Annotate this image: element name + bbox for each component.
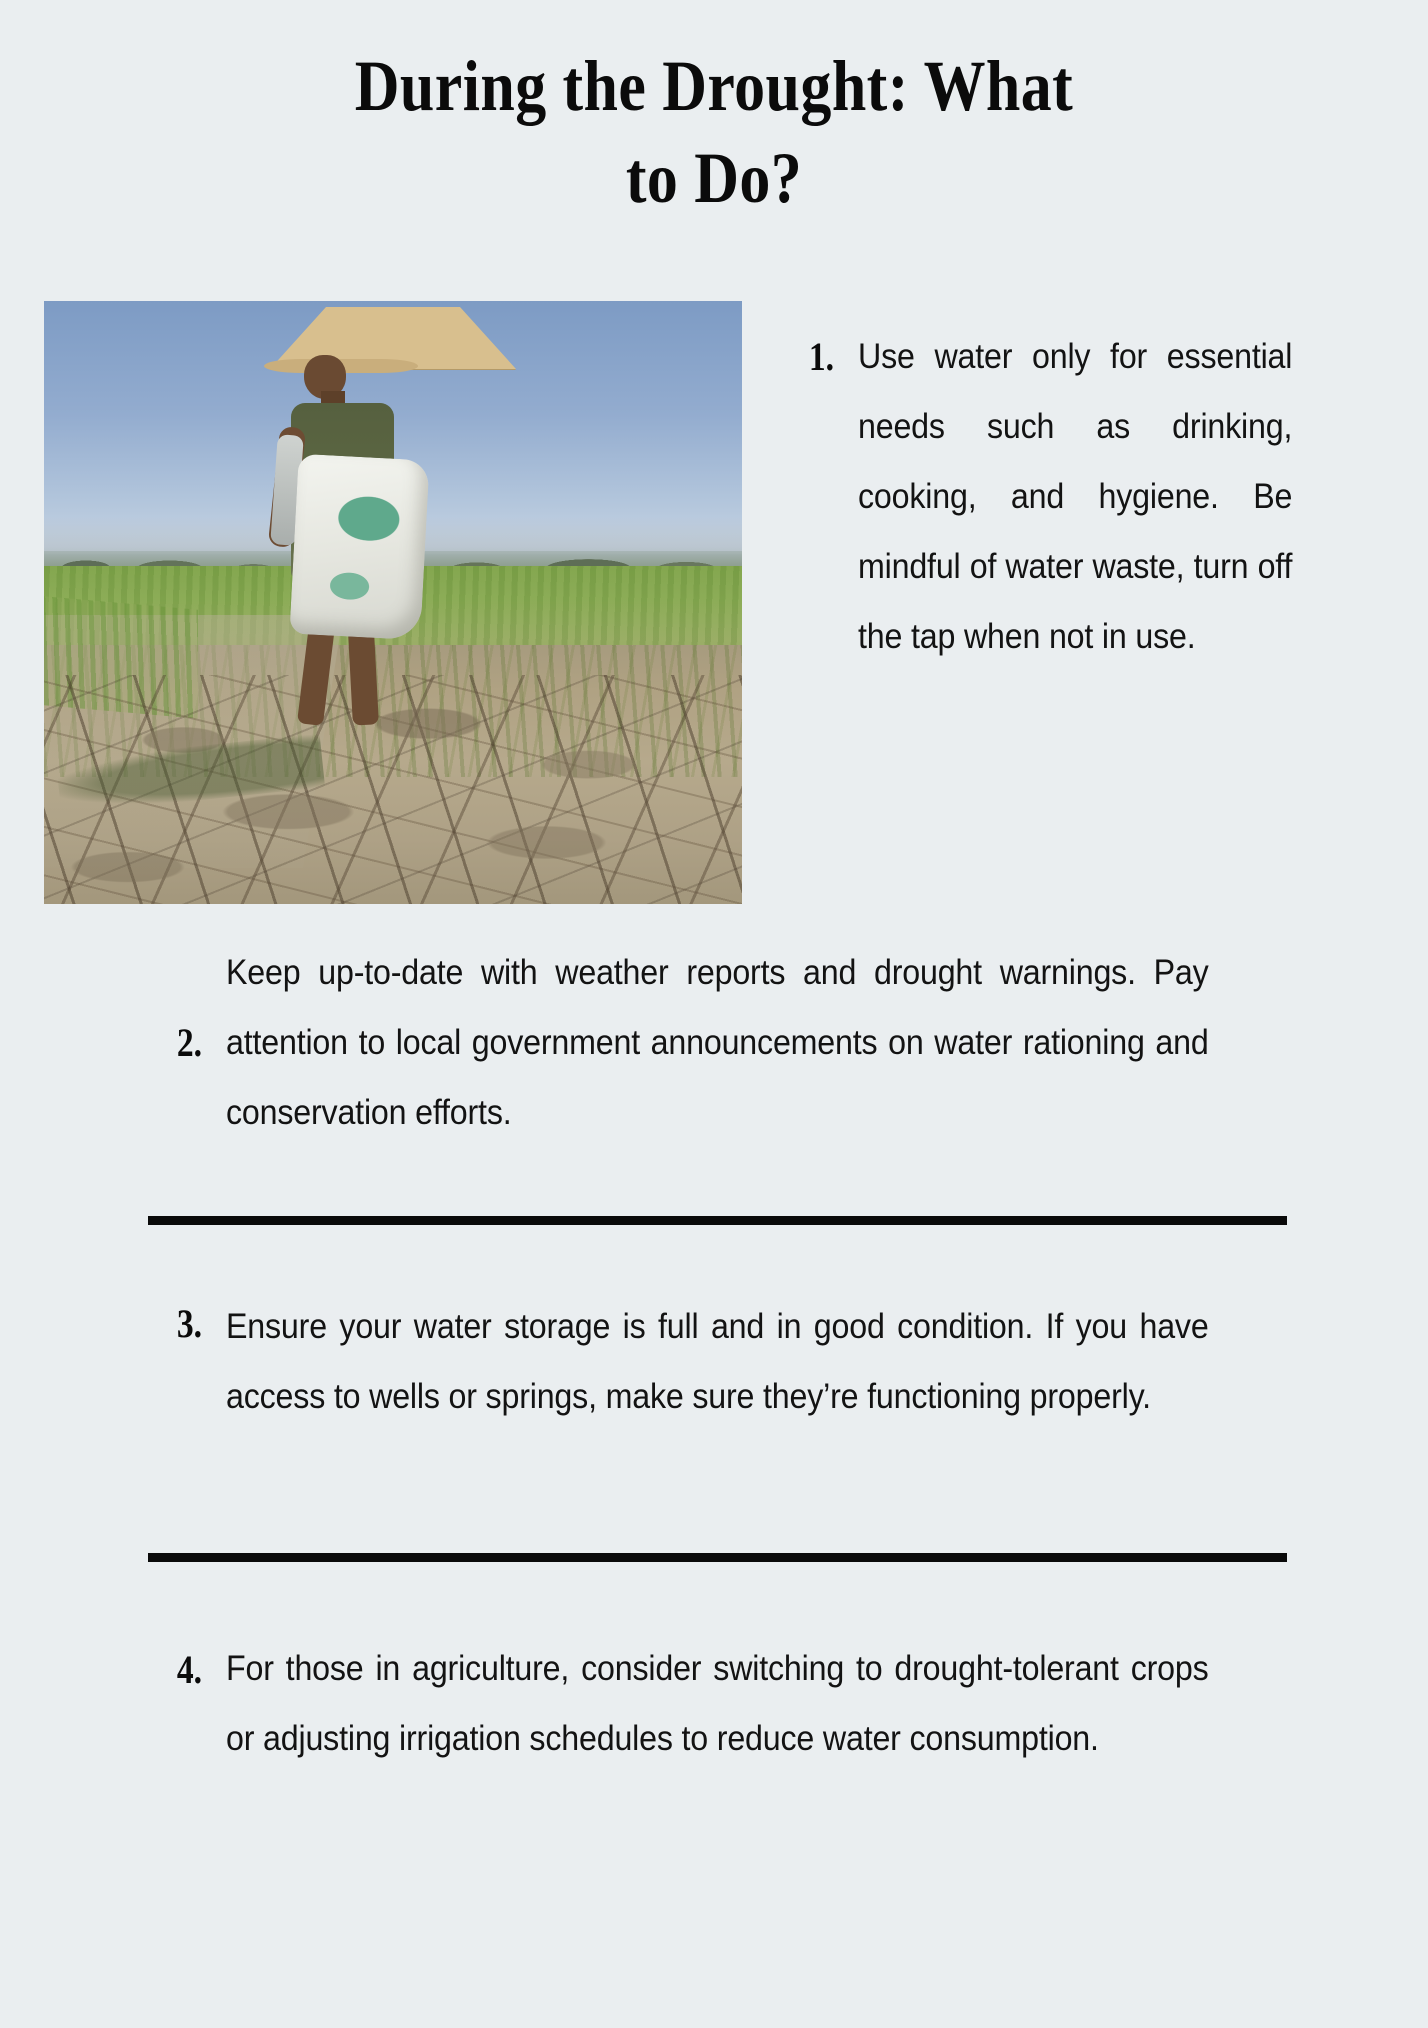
list-item-3-number: 3. [150, 1292, 202, 1344]
photo-farmer [260, 307, 428, 741]
list-item-1-number: 1. [782, 322, 834, 377]
list-item-2-text: Keep up-to-date with weather reports and… [226, 938, 1209, 1148]
farmer-sack [289, 454, 429, 641]
list-item-4: 4. For those in agriculture, consider sw… [150, 1634, 1310, 1774]
list-item-4-text: For those in agriculture, consider switc… [226, 1634, 1209, 1774]
section-divider-1 [148, 1216, 1287, 1225]
list-item-2-number: 2. [150, 1023, 202, 1063]
drought-photo-illustration [44, 301, 742, 904]
list-item-1: 1. Use water only for essential needs su… [782, 322, 1342, 672]
list-item-4-number: 4. [150, 1634, 202, 1690]
list-item-3-text: Ensure your water storage is full and in… [226, 1292, 1209, 1432]
list-item-1-text: Use water only for essential needs such … [858, 322, 1292, 672]
poster-page: During the Drought: What to Do? [0, 0, 1428, 2028]
list-item-3: 3. Ensure your water storage is full and… [150, 1292, 1310, 1432]
section-divider-2 [148, 1553, 1287, 1562]
page-title: During the Drought: What to Do? [150, 40, 1278, 224]
list-item-2: 2. Keep up-to-date with weather reports … [150, 938, 1310, 1148]
drought-photo [44, 301, 742, 904]
page-title-line-1: During the Drought: What [229, 40, 1199, 132]
page-title-line-2: to Do? [229, 132, 1199, 224]
